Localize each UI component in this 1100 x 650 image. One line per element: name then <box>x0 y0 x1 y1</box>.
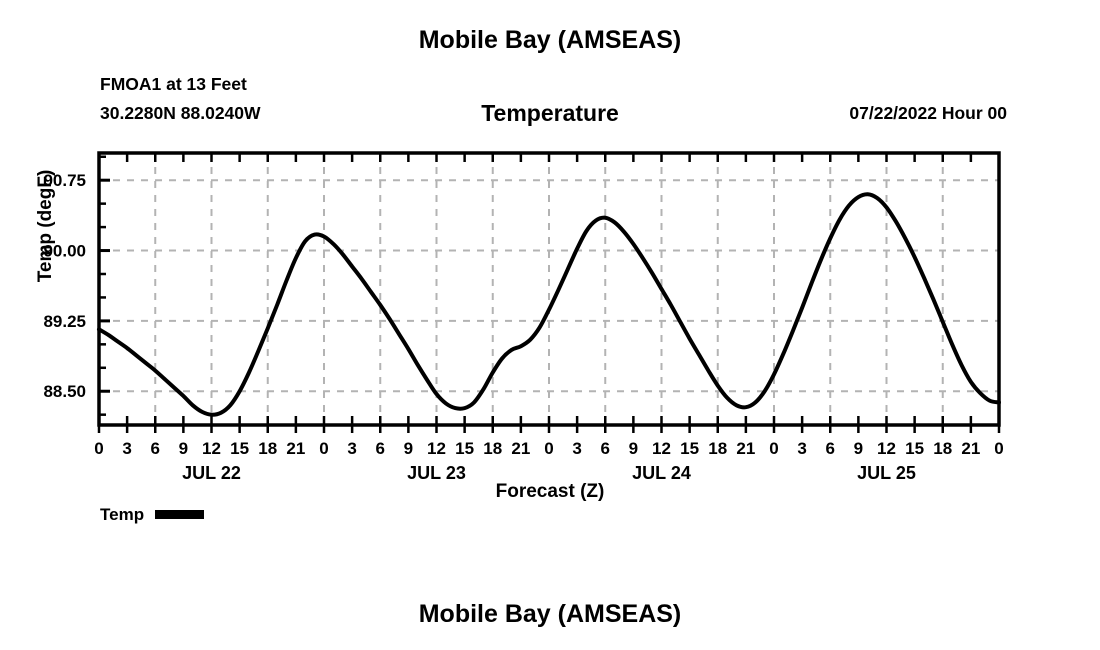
x-tick-label: 21 <box>511 439 530 458</box>
x-tick-label: 3 <box>122 439 131 458</box>
x-tick-label: 6 <box>151 439 160 458</box>
x-tick-label: 6 <box>601 439 610 458</box>
chart-page: Mobile Bay (AMSEAS) FMOA1 at 13 Feet 30.… <box>0 0 1100 650</box>
x-tick-label: 15 <box>455 439 474 458</box>
x-tick-label: 6 <box>826 439 835 458</box>
x-axis-day-label: JUL 23 <box>407 463 466 480</box>
y-tick-label: 88.50 <box>43 382 86 401</box>
x-axis-day-label: JUL 24 <box>632 463 691 480</box>
x-tick-label: 15 <box>680 439 699 458</box>
x-tick-label: 0 <box>769 439 778 458</box>
x-tick-label: 0 <box>544 439 553 458</box>
x-tick-label: 6 <box>376 439 385 458</box>
x-axis-day-label: JUL 25 <box>857 463 916 480</box>
x-tick-label: 18 <box>933 439 952 458</box>
x-axis-label: Forecast (Z) <box>0 481 1100 503</box>
x-tick-label: 18 <box>258 439 277 458</box>
x-tick-label: 3 <box>797 439 806 458</box>
y-tick-label: 89.25 <box>43 312 86 331</box>
x-tick-label: 9 <box>854 439 863 458</box>
legend-swatch-temp <box>155 510 204 519</box>
x-tick-label: 0 <box>319 439 328 458</box>
x-axis-day-label: JUL 22 <box>182 463 241 480</box>
x-tick-label: 12 <box>202 439 221 458</box>
x-tick-label: 21 <box>961 439 980 458</box>
legend-label-temp: Temp <box>100 506 144 523</box>
x-tick-label: 3 <box>572 439 581 458</box>
footer-title: Mobile Bay (AMSEAS) <box>0 600 1100 629</box>
x-tick-label: 9 <box>629 439 638 458</box>
x-tick-label: 12 <box>877 439 896 458</box>
legend: Temp <box>100 506 204 523</box>
x-tick-label: 15 <box>230 439 249 458</box>
temperature-line-chart: 88.5089.2590.0090.7503691215182103691215… <box>0 0 1100 480</box>
x-tick-label: 21 <box>286 439 305 458</box>
y-tick-label: 90.75 <box>43 171 86 190</box>
x-tick-label: 3 <box>347 439 356 458</box>
x-tick-label: 0 <box>994 439 1003 458</box>
x-tick-label: 12 <box>652 439 671 458</box>
y-tick-label: 90.00 <box>43 242 86 261</box>
x-tick-label: 9 <box>179 439 188 458</box>
x-tick-label: 21 <box>736 439 755 458</box>
x-tick-label: 18 <box>708 439 727 458</box>
x-tick-label: 15 <box>905 439 924 458</box>
x-tick-label: 0 <box>94 439 103 458</box>
x-tick-label: 12 <box>427 439 446 458</box>
x-tick-label: 18 <box>483 439 502 458</box>
x-tick-label: 9 <box>404 439 413 458</box>
